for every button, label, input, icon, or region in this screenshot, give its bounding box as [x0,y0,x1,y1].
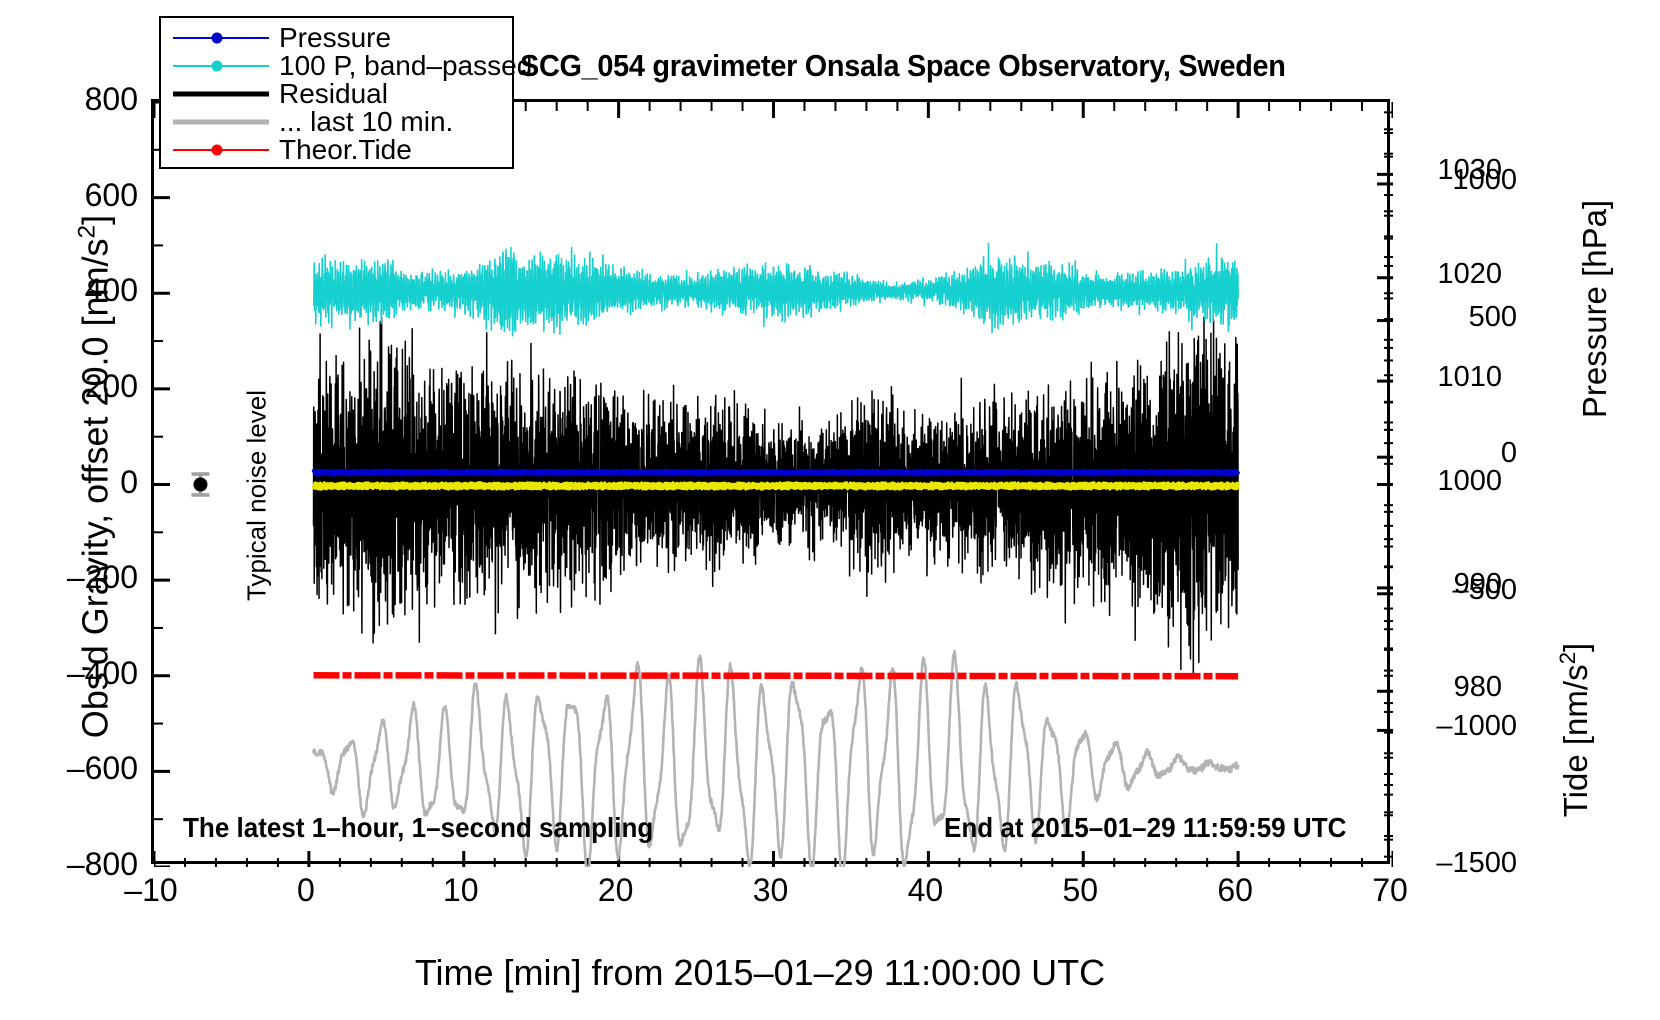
series-bandpassed-100p [314,244,1239,336]
legend-line [173,120,269,125]
legend-swatch-icon [173,26,269,50]
legend-item-0[interactable]: Pressure [173,24,512,52]
legend-item-2[interactable]: Residual [173,80,512,108]
x-tick-label: 20 [556,874,676,906]
y-axis-left-title-text: Obs'd Gravity, offset 20.0 [nm/s [75,238,116,738]
legend-item-label: 100 P, band–passed [279,52,532,80]
y-axis-pressure-title: Pressure [hPa] [1576,109,1614,509]
y-tick-label-tide: –1000 [1412,712,1517,741]
x-tick-label: 70 [1330,874,1450,906]
series-pressure [314,470,1239,475]
y-tick-label-tide: 1000 [1412,166,1517,195]
y-tick-label-pressure: 1020 [1412,260,1502,289]
figure-root: SCG_054 gravimeter Onsala Space Observat… [0,0,1660,1020]
x-axis-title: Time [min] from 2015–01–29 11:00:00 UTC [0,952,1520,994]
y-tick-label-pressure: 980 [1412,673,1502,702]
legend-marker-dot-icon [212,61,223,72]
x-tick-label: –10 [91,874,211,906]
y-axis-tide-title-text: Tide [nm/s [1557,664,1594,817]
errorbar-center-dot [193,478,207,492]
y-tick-label-tide: 500 [1412,303,1517,332]
y-tick-label-pressure: 1010 [1412,363,1502,392]
legend-swatch-icon [173,110,269,134]
y-tick-label-tide: –500 [1412,576,1517,605]
y-axis-tide-title-sup: 2 [1555,652,1580,664]
series-residual [314,317,1239,673]
legend-swatch-icon [173,82,269,106]
sampling-note: The latest 1–hour, 1–second sampling [183,812,653,844]
legend-item-3[interactable]: ... last 10 min. [173,108,512,136]
y-axis-left-title-tail: ] [75,215,116,225]
y-axis-left-title-sup: 2 [74,225,101,239]
legend-item-4[interactable]: Theor.Tide [173,136,512,164]
x-tick-label: 40 [865,874,985,906]
legend-swatch-icon [173,138,269,162]
legend-item-label: Pressure [279,24,391,52]
legend-swatch-icon [173,54,269,78]
series-tide-yellow [314,483,1239,489]
legend-marker-dot-icon [212,145,223,156]
x-tick-label: 0 [246,874,366,906]
plot-canvas [154,102,1393,867]
legend-item-label: ... last 10 min. [279,108,453,136]
legend-marker-dot-icon [212,33,223,44]
legend-item-label: Theor.Tide [279,136,412,164]
legend[interactable]: Pressure100 P, band–passedResidual... la… [159,16,514,169]
legend-item-label: Residual [279,80,388,108]
y-axis-left-title: Obs'd Gravity, offset 20.0 [nm/s2] [74,97,117,857]
series-theor-tide [314,675,1239,676]
legend-line [173,92,269,97]
x-tick-label: 60 [1175,874,1295,906]
y-axis-tide-title: Tide [nm/s2] [1555,560,1595,900]
x-tick-label: 30 [711,874,831,906]
x-tick-label: 10 [401,874,521,906]
x-tick-label: 50 [1020,874,1140,906]
page-title: SCG_054 gravimeter Onsala Space Observat… [520,48,1286,84]
end-time-note: End at 2015–01–29 11:59:59 UTC [944,812,1346,844]
y-axis-tide-title-tail: ] [1557,643,1594,652]
y-tick-label-pressure: 1000 [1412,467,1502,496]
legend-item-1[interactable]: 100 P, band–passed [173,52,512,80]
y-tick-label-tide: 0 [1412,439,1517,468]
noise-errorbar-marker [191,474,209,495]
typical-noise-level-label: Typical noise level [242,361,273,631]
plot-area [151,99,1390,864]
